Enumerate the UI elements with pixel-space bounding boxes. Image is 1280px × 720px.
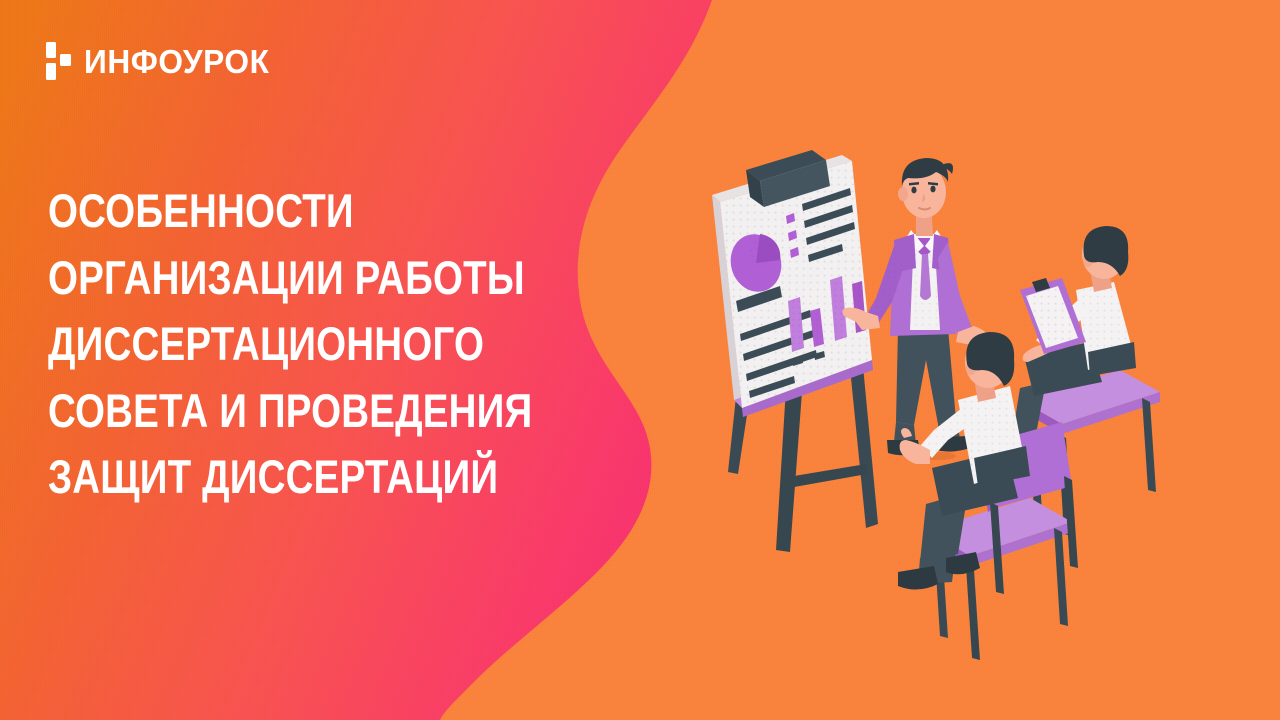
title-line-1: ОСОБЕННОСТИ [48,178,491,245]
title-line-5: ЗАЩИТ ДИССЕРТАЦИЙ [48,444,491,511]
cover-canvas: ИНФОУРОК ОСОБЕННОСТИ ОРГАНИЗАЦИИ РАБОТЫ … [0,0,1280,720]
brand-logo-text: ИНФОУРОК [84,45,270,78]
title-line-3: ДИССЕРТАЦИОННОГО [48,311,491,378]
clipboard [1020,278,1086,354]
title-line-4: СОВЕТА И ПРОВЕДЕНИЯ [48,378,491,445]
flipchart-board [712,150,873,417]
page-title: ОСОБЕННОСТИ ОРГАНИЗАЦИИ РАБОТЫ ДИССЕРТАЦ… [48,178,588,511]
title-line-2: ОРГАНИЗАЦИИ РАБОТЫ [48,245,491,312]
brand-logo[interactable]: ИНФОУРОК [46,42,277,80]
infourok-square-mark-icon [46,42,71,80]
presentation-scene-illustration [690,120,1210,640]
